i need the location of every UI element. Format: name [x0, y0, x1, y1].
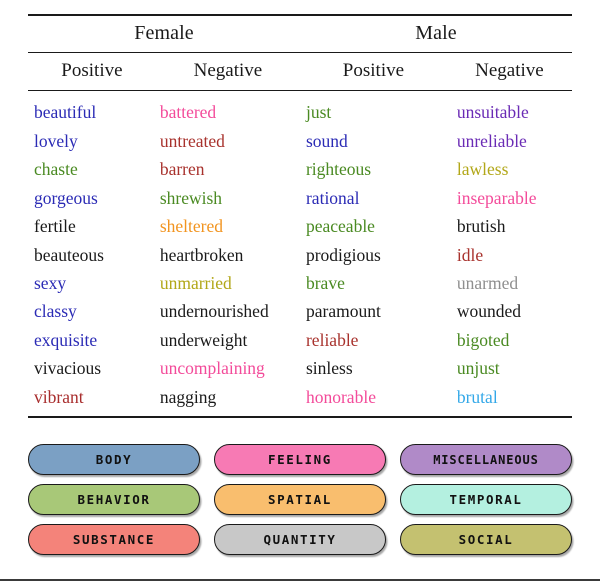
word-item: sound	[300, 127, 447, 155]
word-item: undernourished	[156, 297, 300, 325]
word-item: inseparable	[447, 184, 572, 212]
word-column-male-negative: unsuitableunreliablelawlessinseparablebr…	[447, 98, 572, 411]
word-item: nagging	[156, 383, 300, 411]
word-item: beauteous	[28, 241, 156, 269]
column-header-male-positive: Positive	[300, 53, 447, 90]
word-item: vivacious	[28, 354, 156, 382]
word-columns: beautifullovelychastegorgeousfertilebeau…	[28, 91, 572, 416]
column-header-female-positive: Positive	[28, 53, 156, 90]
word-item: honorable	[300, 383, 447, 411]
word-item: rational	[300, 184, 447, 212]
legend-chip-miscellaneous[interactable]: MISCELLANEOUS	[400, 444, 572, 475]
group-header-female: Female	[28, 16, 300, 52]
word-item: sheltered	[156, 212, 300, 240]
legend-chip-behavior[interactable]: BEHAVIOR	[28, 484, 200, 515]
word-item: barren	[156, 155, 300, 183]
legend-chip-label: SPATIAL	[268, 492, 332, 507]
column-header-male-negative: Negative	[447, 53, 572, 90]
legend-chip-label: FEELING	[268, 452, 332, 467]
word-item: heartbroken	[156, 241, 300, 269]
legend-chip-substance[interactable]: SUBSTANCE	[28, 524, 200, 555]
word-item: unsuitable	[447, 98, 572, 126]
word-item: shrewish	[156, 184, 300, 212]
word-item: untreated	[156, 127, 300, 155]
legend-chip-label: TEMPORAL	[449, 492, 522, 507]
legend-chip-quantity[interactable]: QUANTITY	[214, 524, 386, 555]
word-item: vibrant	[28, 383, 156, 411]
legend-chip-temporal[interactable]: TEMPORAL	[400, 484, 572, 515]
word-item: sinless	[300, 354, 447, 382]
word-column-female-negative: battereduntreatedbarrenshrewishsheltered…	[156, 98, 300, 411]
word-item: righteous	[300, 155, 447, 183]
word-item: gorgeous	[28, 184, 156, 212]
word-item: chaste	[28, 155, 156, 183]
word-item: paramount	[300, 297, 447, 325]
word-column-male-positive: justsoundrighteousrationalpeaceableprodi…	[300, 98, 447, 411]
word-item: idle	[447, 241, 572, 269]
legend-chip-feeling[interactable]: FEELING	[214, 444, 386, 475]
word-table: Female Male Positive Negative Positive N…	[28, 14, 572, 418]
word-item: classy	[28, 297, 156, 325]
legend-chip-label: BODY	[96, 452, 133, 467]
word-item: unarmed	[447, 269, 572, 297]
word-item: brutal	[447, 383, 572, 411]
word-item: lovely	[28, 127, 156, 155]
word-item: just	[300, 98, 447, 126]
column-header-female-negative: Negative	[156, 53, 300, 90]
figure-root: Female Male Positive Negative Positive N…	[0, 0, 600, 588]
legend-chip-spatial[interactable]: SPATIAL	[214, 484, 386, 515]
word-item: unjust	[447, 354, 572, 382]
table-bottom-rule	[28, 416, 572, 418]
word-item: unreliable	[447, 127, 572, 155]
word-item: peaceable	[300, 212, 447, 240]
legend-chip-label: BEHAVIOR	[77, 492, 150, 507]
group-header-male: Male	[300, 16, 572, 52]
word-item: prodigious	[300, 241, 447, 269]
word-item: fertile	[28, 212, 156, 240]
word-item: brutish	[447, 212, 572, 240]
legend-chip-body[interactable]: BODY	[28, 444, 200, 475]
word-item: uncomplaining	[156, 354, 300, 382]
legend-chip-social[interactable]: SOCIAL	[400, 524, 572, 555]
word-item: exquisite	[28, 326, 156, 354]
word-item: bigoted	[447, 326, 572, 354]
word-item: beautiful	[28, 98, 156, 126]
word-item: lawless	[447, 155, 572, 183]
word-column-female-positive: beautifullovelychastegorgeousfertilebeau…	[28, 98, 156, 411]
word-item: wounded	[447, 297, 572, 325]
legend-chip-label: SOCIAL	[459, 532, 514, 547]
word-item: underweight	[156, 326, 300, 354]
category-legend: BODYFEELINGMISCELLANEOUSBEHAVIORSPATIALT…	[28, 444, 572, 555]
legend-row: BEHAVIORSPATIALTEMPORAL	[28, 484, 572, 515]
legend-chip-label: SUBSTANCE	[73, 532, 155, 547]
legend-row: SUBSTANCEQUANTITYSOCIAL	[28, 524, 572, 555]
word-item: sexy	[28, 269, 156, 297]
word-item: unmarried	[156, 269, 300, 297]
word-item: battered	[156, 98, 300, 126]
group-header-row: Female Male	[28, 16, 572, 52]
word-item: brave	[300, 269, 447, 297]
legend-row: BODYFEELINGMISCELLANEOUS	[28, 444, 572, 475]
column-header-row: Positive Negative Positive Negative	[28, 53, 572, 90]
legend-chip-label: MISCELLANEOUS	[433, 453, 539, 467]
legend-chip-label: QUANTITY	[263, 532, 336, 547]
word-item: reliable	[300, 326, 447, 354]
figure-bottom-rule	[0, 579, 600, 581]
